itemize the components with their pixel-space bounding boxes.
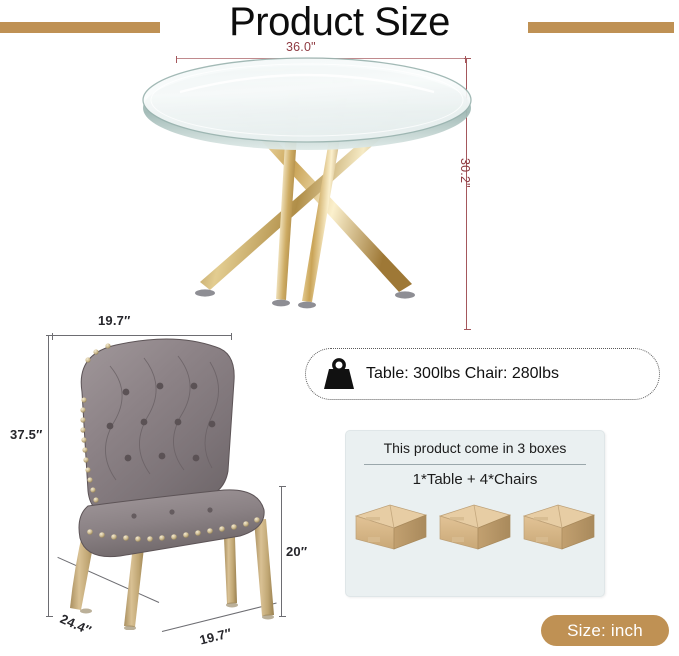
cardboard-box-icon <box>522 499 596 551</box>
chair-width-label: 19.7″ <box>98 313 131 328</box>
boxes-panel: This product come in 3 boxes 1*Table + 4… <box>345 430 605 597</box>
weight-capacity-text: Table: 300lbs Chair: 280lbs <box>366 365 559 383</box>
boxes-illustration-row <box>354 499 596 551</box>
glass-table-image <box>140 52 475 337</box>
weight-capacity-card: Table: 300lbs Chair: 280lbs <box>305 348 660 400</box>
cardboard-box-icon <box>354 499 428 551</box>
weight-icon <box>322 358 356 390</box>
page-title: Product Size <box>0 0 679 45</box>
chair-height-label: 37.5″ <box>10 427 43 442</box>
size-unit-badge: Size: inch <box>541 615 669 646</box>
cardboard-box-icon <box>438 499 512 551</box>
boxes-panel-contents: 1*Table + 4*Chairs <box>346 471 604 488</box>
boxes-panel-divider <box>364 464 586 465</box>
size-unit-label: Size: inch <box>567 621 643 641</box>
boxes-panel-title: This product come in 3 boxes <box>346 440 604 456</box>
dining-chair-image <box>48 330 298 630</box>
